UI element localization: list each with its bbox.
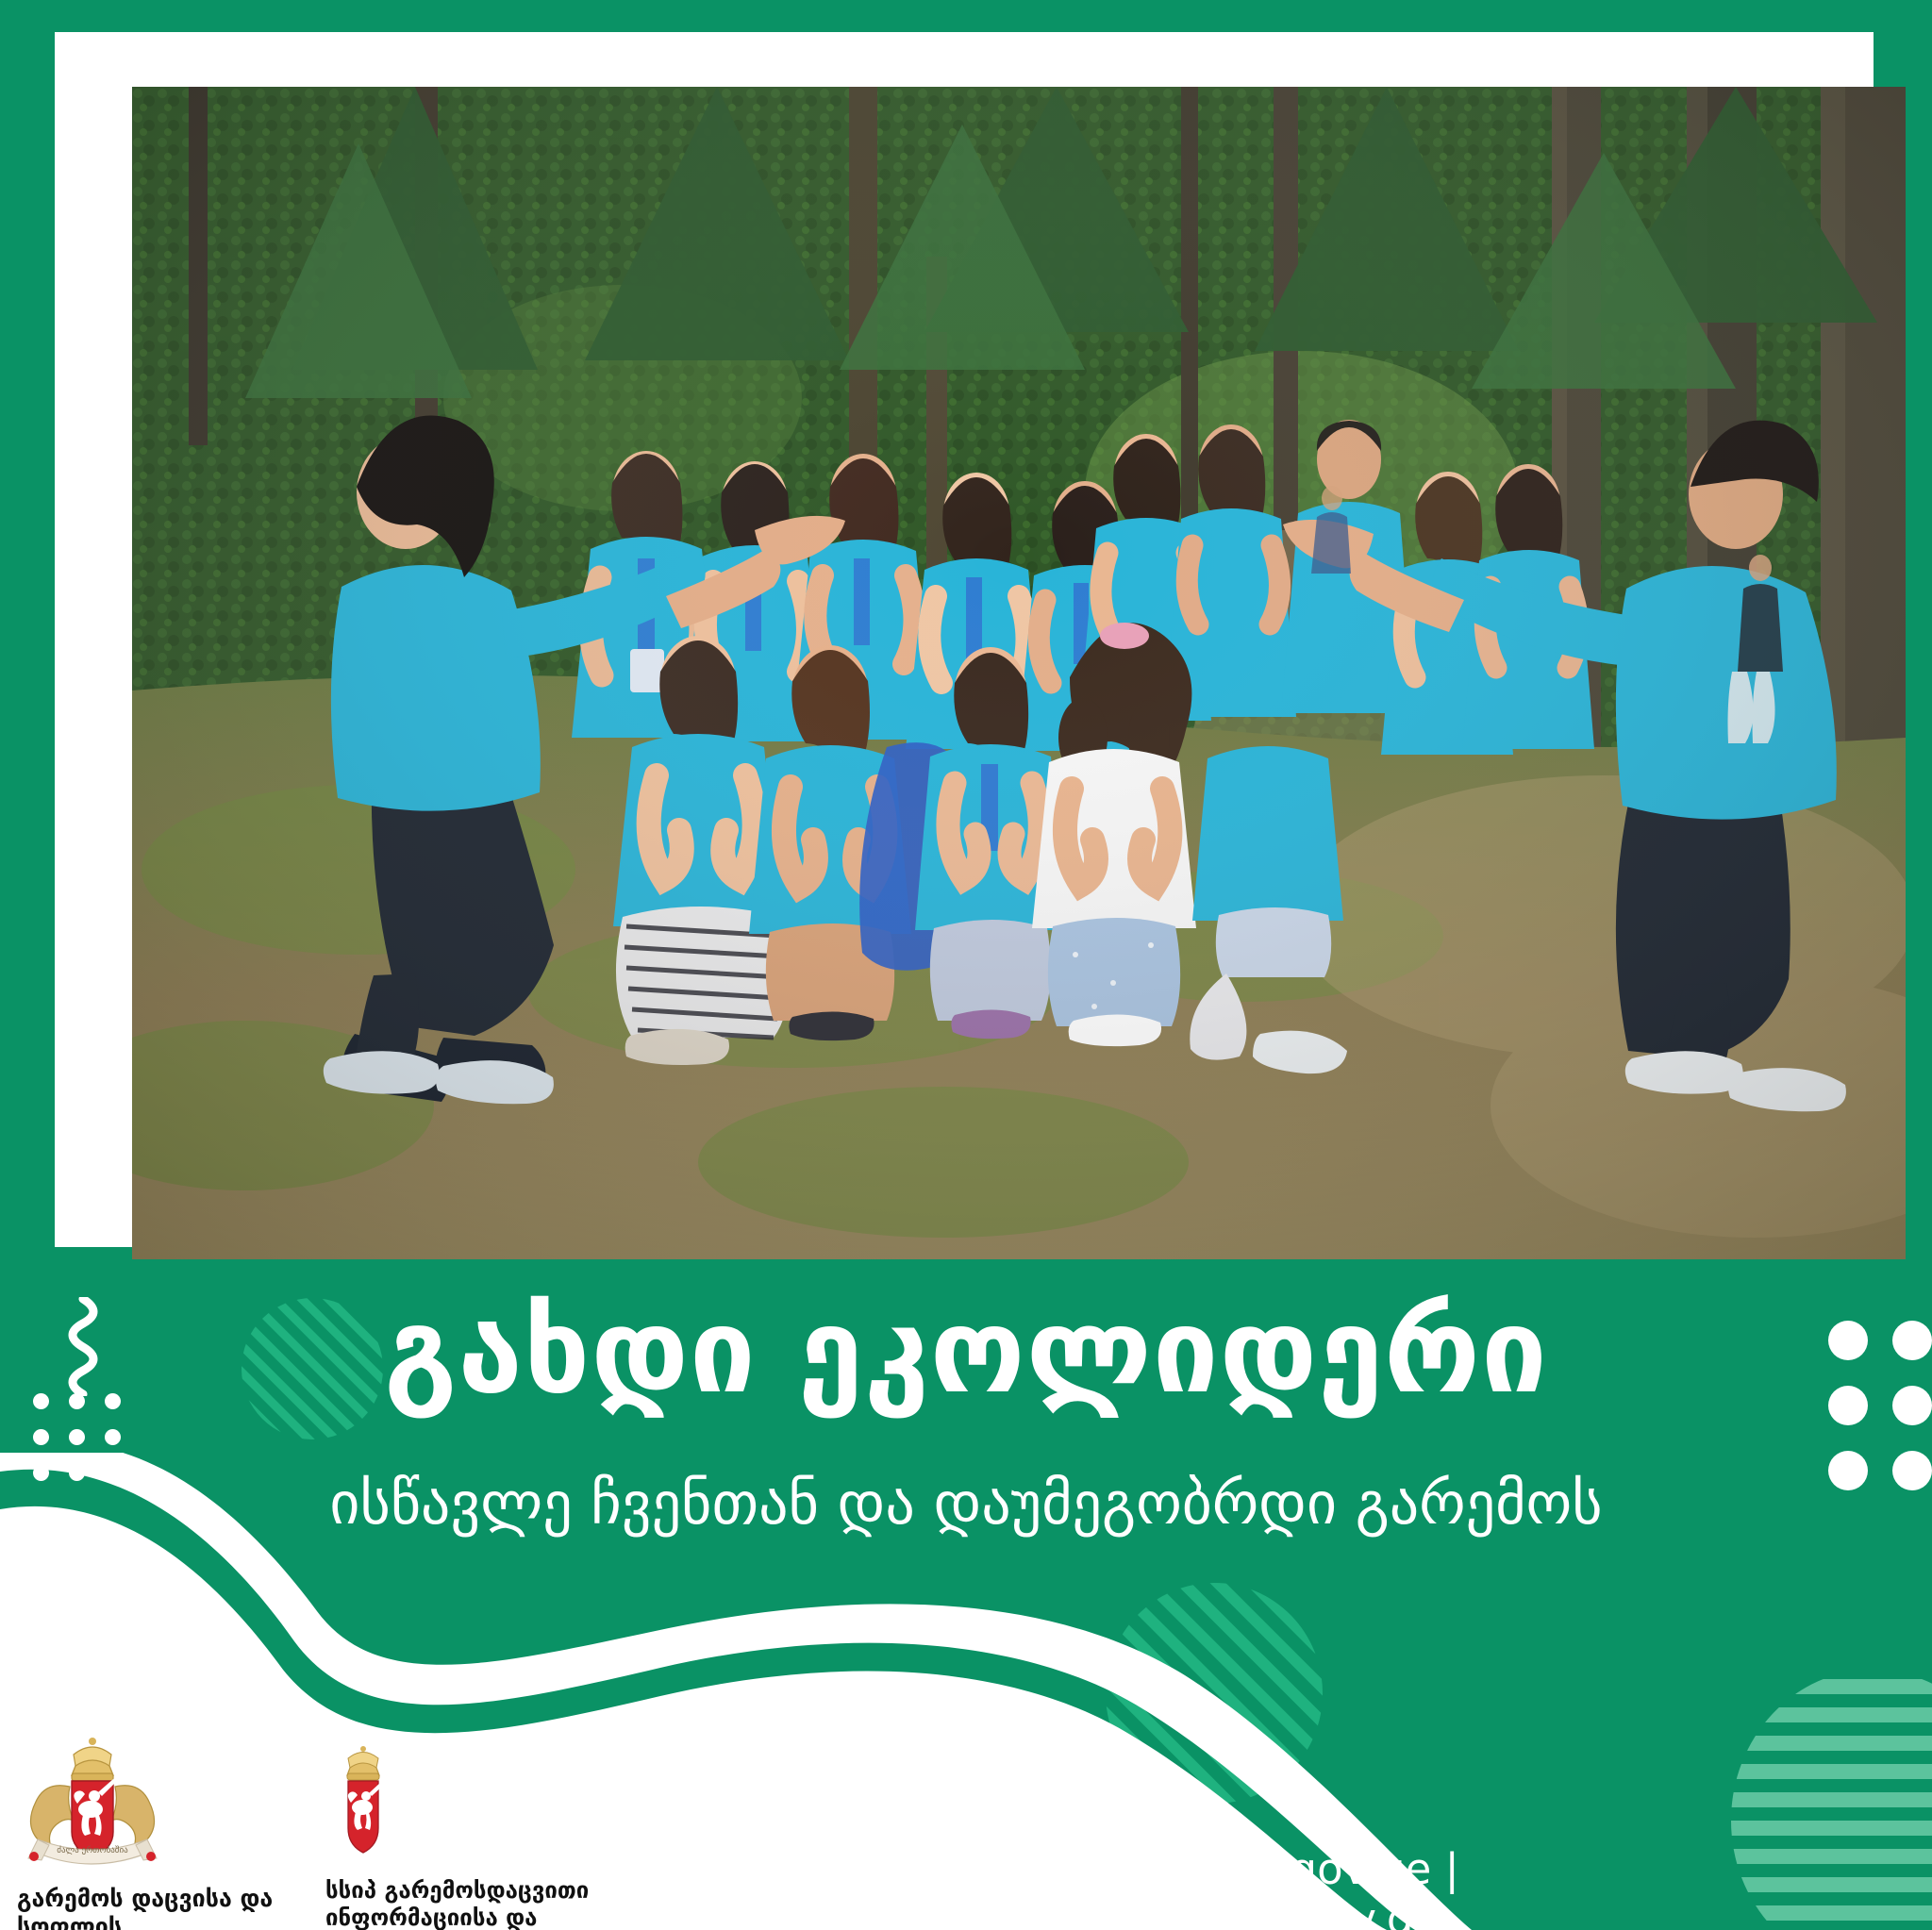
eiec-caption-line-1: სსიპ გარემოსდაცვითი [325, 1877, 627, 1905]
eiec-caption-line-2: ინფორმაციისა და [325, 1905, 627, 1930]
eiec-logo-caption: სსიპ გარემოსდაცვითი ინფორმაციისა და განა… [325, 1877, 627, 1930]
contact-info[interactable]: www.eiec.gov.ge | info@eiec.gov.ge [1075, 1844, 1774, 1930]
eiec-emblem-icon [325, 1743, 401, 1866]
ministry-emblem-icon: ძალა ერთობაშია [17, 1734, 168, 1875]
group-photo [132, 87, 1906, 1259]
svg-text:ძალა ერთობაშია: ძალა ერთობაშია [57, 1845, 128, 1855]
photo-frame [55, 32, 1874, 1247]
eiec-logo-block: სსიპ გარემოსდაცვითი ინფორმაციისა და განა… [325, 1743, 637, 1930]
poster-root: გახდი ეკოლიდერი ისწავლე ჩვენთან და დაუმე… [0, 0, 1932, 1930]
photo-illustration [132, 87, 1906, 1259]
page-title: გახდი ეკოლიდერი [0, 1290, 1932, 1413]
